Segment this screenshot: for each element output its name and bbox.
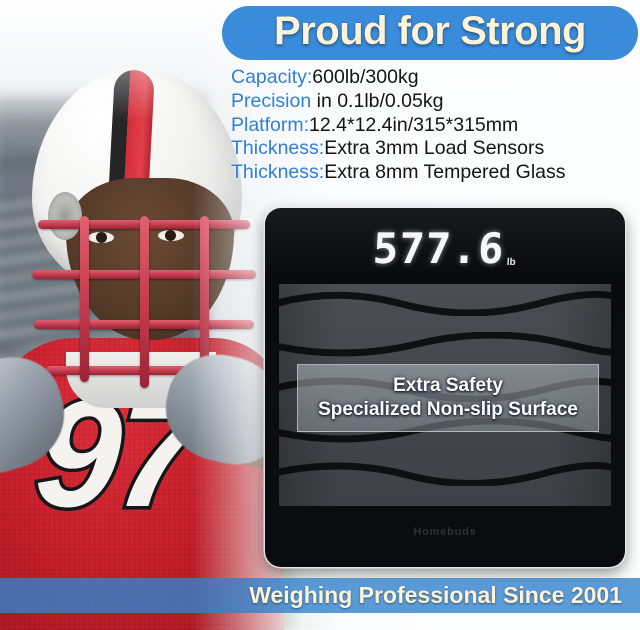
specification-list: Capacity:600lb/300kg Precision in 0.1lb/… xyxy=(231,66,637,185)
spec-label: Capacity: xyxy=(231,66,312,88)
caption-line-2: Specialized Non-slip Surface xyxy=(318,398,578,422)
headline-text: Proud for Strong xyxy=(274,9,586,54)
led-display: 577.6 lb xyxy=(265,216,625,282)
spec-value: 12.4*12.4in/315*315mm xyxy=(309,114,518,136)
footer-banner: Weighing Professional Since 2001 xyxy=(0,578,640,613)
spec-value: in 0.1lb/0.05kg xyxy=(311,90,443,112)
spec-label: Thickness: xyxy=(231,137,324,159)
weight-value: 577.6 xyxy=(372,228,506,270)
weight-unit: lb xyxy=(507,257,516,268)
spec-row-precision: Precision in 0.1lb/0.05kg xyxy=(231,90,637,114)
spec-row-platform: Platform:12.4*12.4in/315*315mm xyxy=(231,114,637,138)
spec-value: 600lb/300kg xyxy=(312,66,418,88)
spec-label: Thickness: xyxy=(231,161,324,183)
brand-logo: Homebuds xyxy=(265,526,625,538)
spec-row-capacity: Capacity:600lb/300kg xyxy=(231,66,637,90)
caption-line-1: Extra Safety xyxy=(393,374,503,398)
bathroom-scale-product: 577.6 lb Extra Safety Special xyxy=(265,208,625,567)
led-readout: 577.6 lb xyxy=(372,228,518,270)
product-marketing-image: 97 xyxy=(0,0,640,630)
footer-text: Weighing Professional Since 2001 xyxy=(249,582,622,609)
spec-value: Extra 8mm Tempered Glass xyxy=(324,161,565,183)
spec-value: Extra 3mm Load Sensors xyxy=(324,137,544,159)
spec-row-load-sensors: Thickness:Extra 3mm Load Sensors xyxy=(231,137,637,161)
spec-label: Platform: xyxy=(231,114,309,136)
non-slip-caption-overlay: Extra Safety Specialized Non-slip Surfac… xyxy=(297,364,599,432)
spec-label: Precision xyxy=(231,90,311,112)
spec-row-tempered-glass: Thickness:Extra 8mm Tempered Glass xyxy=(231,161,637,185)
headline-banner: Proud for Strong xyxy=(222,6,638,60)
